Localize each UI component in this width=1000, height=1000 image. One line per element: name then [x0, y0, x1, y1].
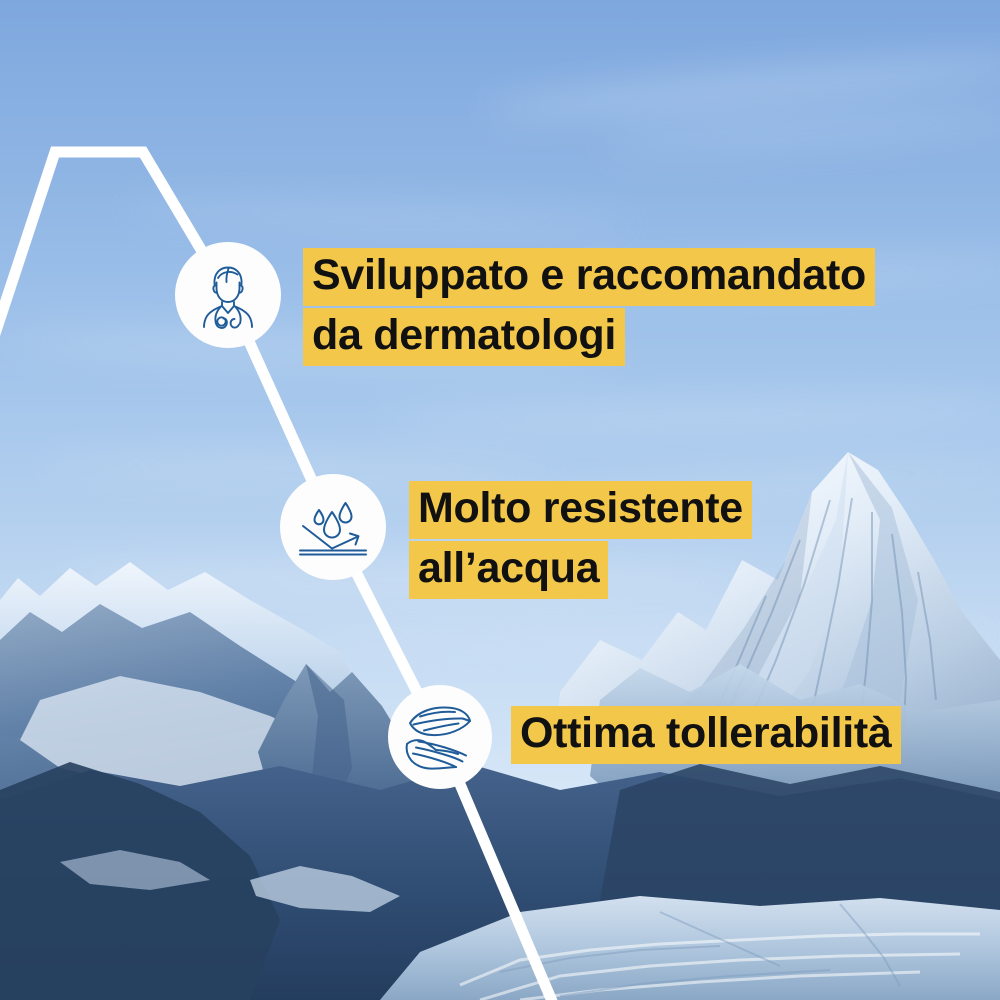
- infographic-canvas: Sviluppato e raccomandato da dermatologi…: [0, 0, 1000, 1000]
- benefit-label-line: Ottima tollerabilità: [511, 706, 901, 764]
- benefit-bubble-water-resistant[interactable]: [280, 474, 386, 580]
- benefit-bubble-dermatologist[interactable]: [175, 242, 281, 348]
- benefit-label-dermatologist: Sviluppato e raccomandato da dermatologi: [303, 248, 875, 368]
- benefit-bubble-tolerability[interactable]: [388, 685, 492, 789]
- benefit-label-line: Molto resistente: [409, 481, 752, 539]
- water-repellent-icon: [294, 488, 372, 566]
- benefit-label-line: Sviluppato e raccomandato: [303, 248, 875, 306]
- doctor-icon: [191, 258, 265, 332]
- benefit-label-water-resistant: Molto resistente all’acqua: [409, 481, 752, 601]
- feather-in-hand-icon: [400, 697, 480, 777]
- benefit-label-tolerability: Ottima tollerabilità: [511, 706, 901, 766]
- benefit-label-line: da dermatologi: [303, 308, 625, 366]
- benefit-label-line: all’acqua: [409, 541, 608, 599]
